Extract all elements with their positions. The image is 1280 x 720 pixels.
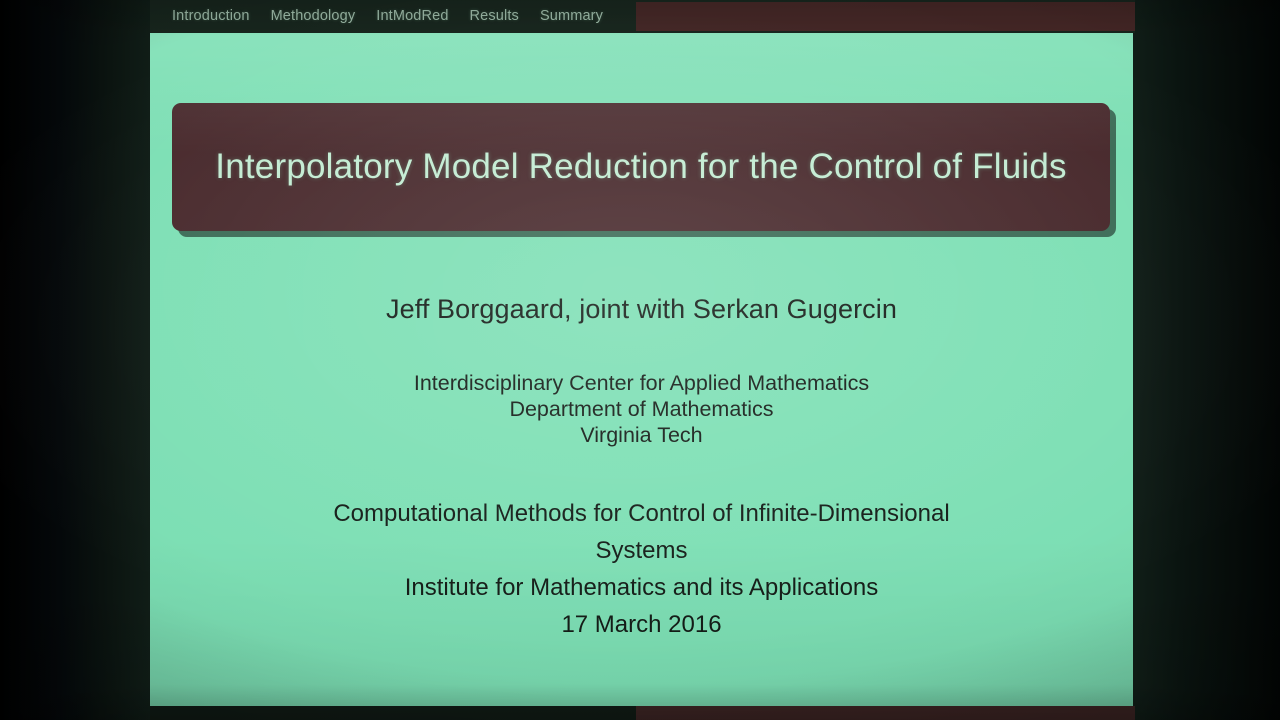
projected-slide-capture: Introduction Methodology IntModRed Resul… (0, 0, 1280, 720)
nav-item-intmodred[interactable]: IntModRed (376, 9, 448, 24)
venue-line-1: Computational Methods for Control of Inf… (150, 496, 1133, 533)
venue-line-2: Systems (150, 533, 1133, 570)
nav-item-summary[interactable]: Summary (540, 9, 603, 24)
slide-footer-accent (636, 706, 1135, 720)
affiliation-line-3: Virginia Tech (150, 422, 1133, 448)
page-title: Interpolatory Model Reduction for the Co… (215, 143, 1066, 191)
slide-navigation-bar: Introduction Methodology IntModRed Resul… (150, 0, 1135, 33)
nav-item-introduction[interactable]: Introduction (172, 9, 250, 24)
slide-surface: Interpolatory Model Reduction for the Co… (150, 33, 1133, 706)
affiliation-line-2: Department of Mathematics (150, 396, 1133, 422)
navigation-accent-bar (636, 2, 1135, 31)
venue-line-3: Institute for Mathematics and its Applic… (150, 570, 1133, 607)
nav-item-results[interactable]: Results (470, 9, 519, 24)
affiliation-block: Interdisciplinary Center for Applied Mat… (150, 370, 1133, 448)
slide-body: Jeff Borggaard, joint with Serkan Gugerc… (150, 231, 1133, 643)
venue-block: Computational Methods for Control of Inf… (150, 496, 1133, 643)
navigation-item-list: Introduction Methodology IntModRed Resul… (150, 0, 603, 33)
affiliation-line-1: Interdisciplinary Center for Applied Mat… (150, 370, 1133, 396)
nav-item-methodology[interactable]: Methodology (271, 9, 356, 24)
author-line: Jeff Borggaard, joint with Serkan Gugerc… (150, 293, 1133, 325)
venue-date: 17 March 2016 (150, 607, 1133, 644)
slide-footer-strip (150, 706, 1135, 720)
title-box: Interpolatory Model Reduction for the Co… (172, 103, 1110, 231)
